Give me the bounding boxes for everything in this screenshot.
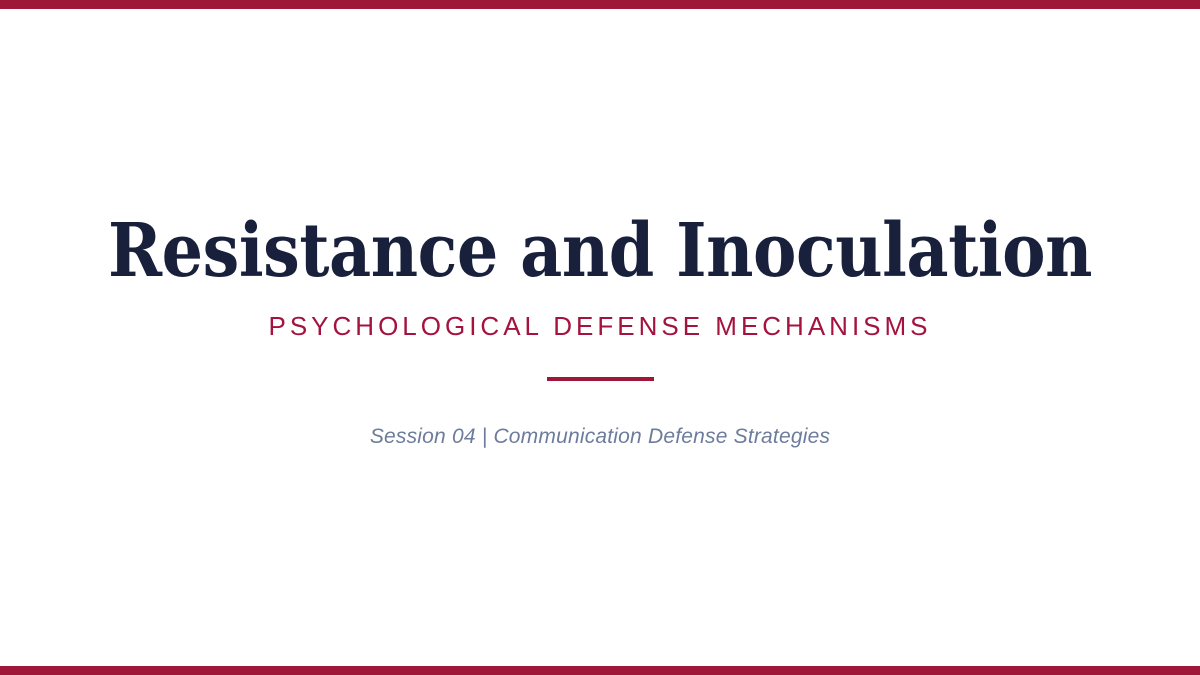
slide-subtitle: PSYCHOLOGICAL DEFENSE MECHANISMS <box>0 311 1200 342</box>
bottom-accent-bar <box>0 666 1200 675</box>
slide-title: Resistance and Inoculation <box>72 213 1128 290</box>
slide-content: Resistance and Inoculation PSYCHOLOGICAL… <box>0 0 1200 675</box>
session-line: Session 04 | Communication Defense Strat… <box>0 424 1200 450</box>
title-divider-rule <box>547 377 654 381</box>
title-slide: Resistance and Inoculation PSYCHOLOGICAL… <box>0 0 1200 675</box>
